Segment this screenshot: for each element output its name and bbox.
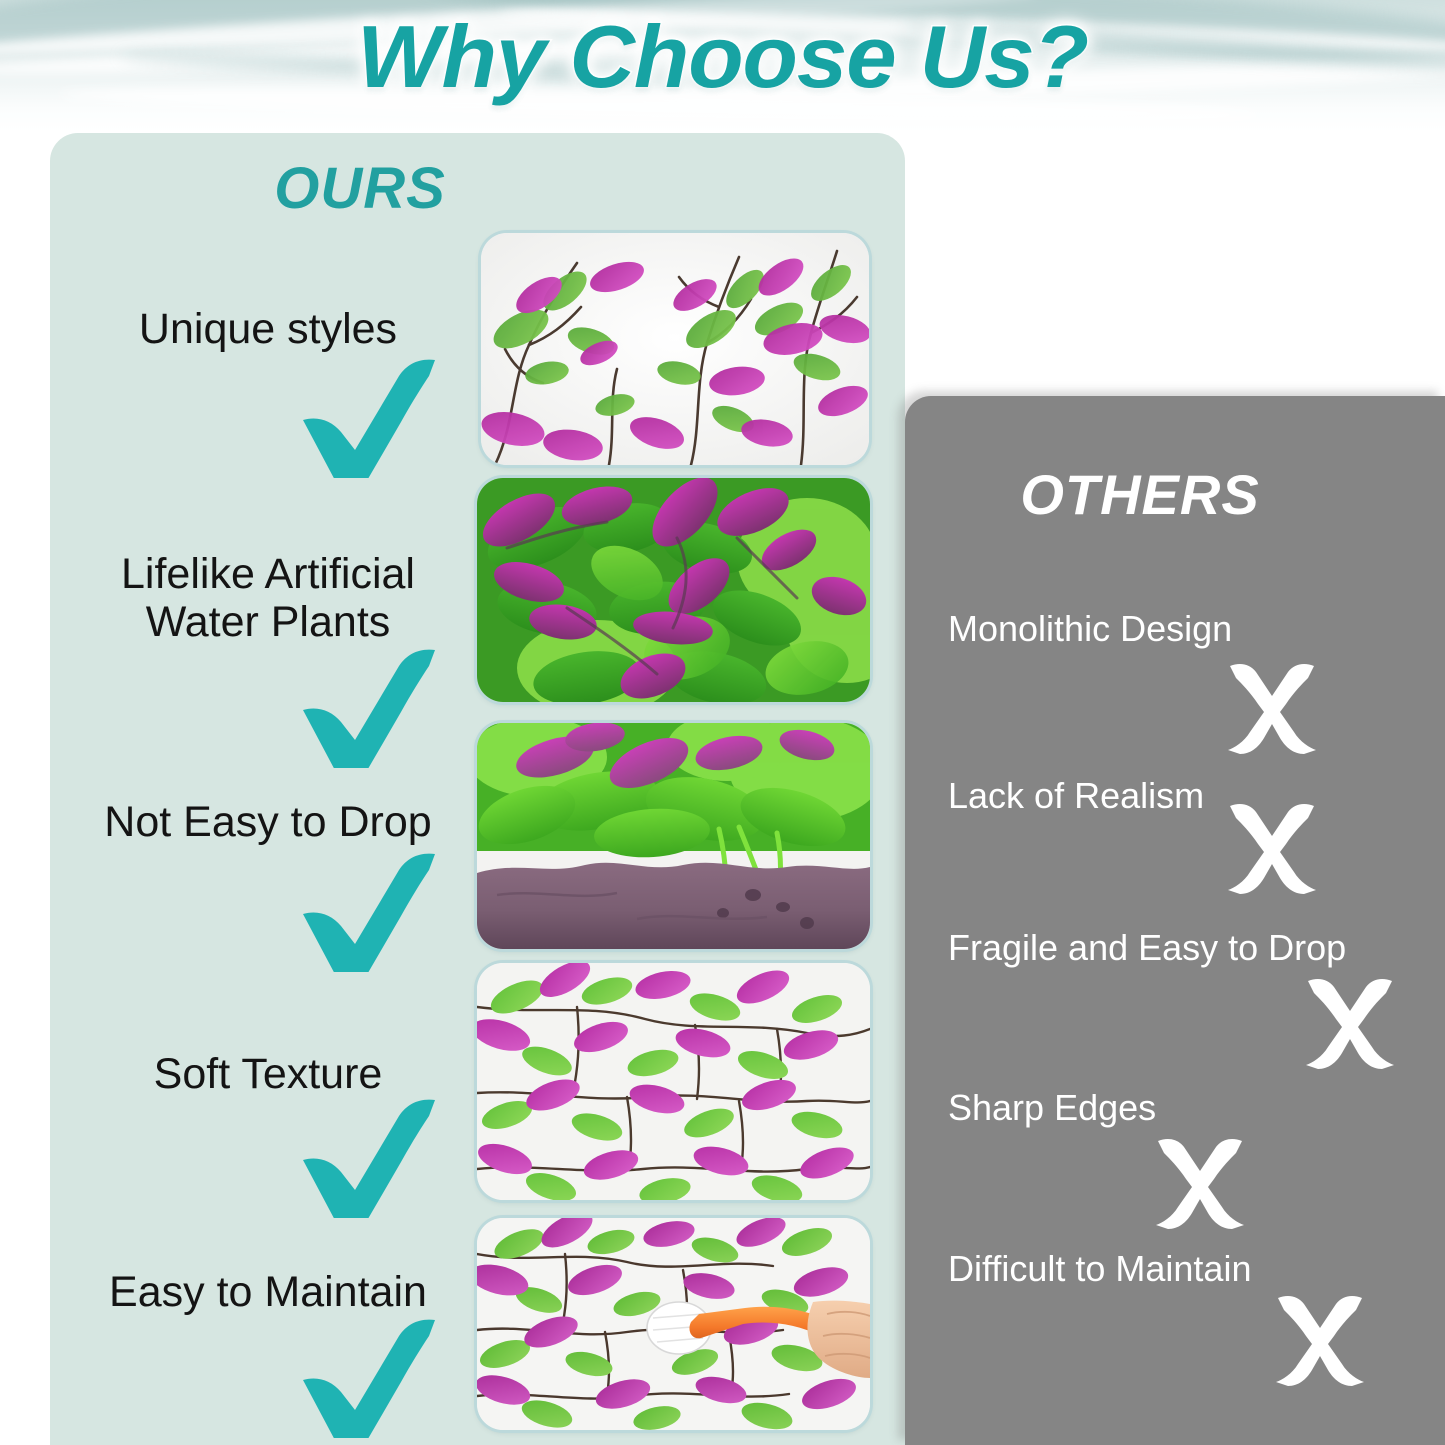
check-icon xyxy=(295,852,445,972)
product-photo-unique-styles xyxy=(481,233,869,465)
x-icon xyxy=(1224,800,1320,896)
feature-label: Soft Texture xyxy=(58,1050,478,1098)
check-icon xyxy=(295,648,445,768)
con-label: Fragile and Easy to Drop xyxy=(948,927,1346,969)
page-title: Why Choose Us? xyxy=(0,6,1445,108)
con-label: Monolithic Design xyxy=(948,608,1232,650)
product-photo-soft-texture xyxy=(477,963,870,1200)
product-photo-lifelike-plants xyxy=(477,478,870,702)
feature-label: Easy to Maintain xyxy=(58,1268,478,1316)
con-label: Lack of Realism xyxy=(948,775,1204,817)
feature-row-soft-texture: Soft Texture xyxy=(58,1050,478,1098)
product-photo-not-easy-to-drop xyxy=(477,723,870,949)
feature-row-not-easy-to-drop: Not Easy to Drop xyxy=(58,798,478,846)
feature-row-easy-to-maintain: Easy to Maintain xyxy=(58,1268,478,1316)
feature-row-unique-styles: Unique styles xyxy=(58,305,478,353)
feature-label: Not Easy to Drop xyxy=(58,798,478,846)
con-row-sharp-edges: Sharp Edges xyxy=(948,1087,1156,1129)
con-row-monolithic-design: Monolithic Design xyxy=(948,608,1232,650)
check-icon xyxy=(295,358,445,478)
x-icon xyxy=(1224,660,1320,756)
con-label: Sharp Edges xyxy=(948,1087,1156,1129)
check-icon xyxy=(295,1098,445,1218)
check-icon xyxy=(295,1318,445,1438)
con-label: Difficult to Maintain xyxy=(948,1248,1251,1290)
others-heading: OTHERS xyxy=(905,462,1375,527)
x-icon xyxy=(1272,1292,1368,1388)
con-row-lack-of-realism: Lack of Realism xyxy=(948,775,1204,817)
con-row-difficult-to-maintain: Difficult to Maintain xyxy=(948,1248,1251,1290)
feature-row-lifelike-plants: Lifelike Artificial Water Plants xyxy=(58,550,478,646)
x-icon xyxy=(1302,975,1398,1071)
x-icon xyxy=(1152,1135,1248,1231)
feature-label: Unique styles xyxy=(58,305,478,353)
feature-label: Lifelike Artificial Water Plants xyxy=(58,550,478,646)
ours-heading: OURS xyxy=(50,155,670,222)
con-row-fragile-easy-to-drop: Fragile and Easy to Drop xyxy=(948,927,1346,969)
product-photo-easy-to-maintain xyxy=(477,1218,870,1430)
